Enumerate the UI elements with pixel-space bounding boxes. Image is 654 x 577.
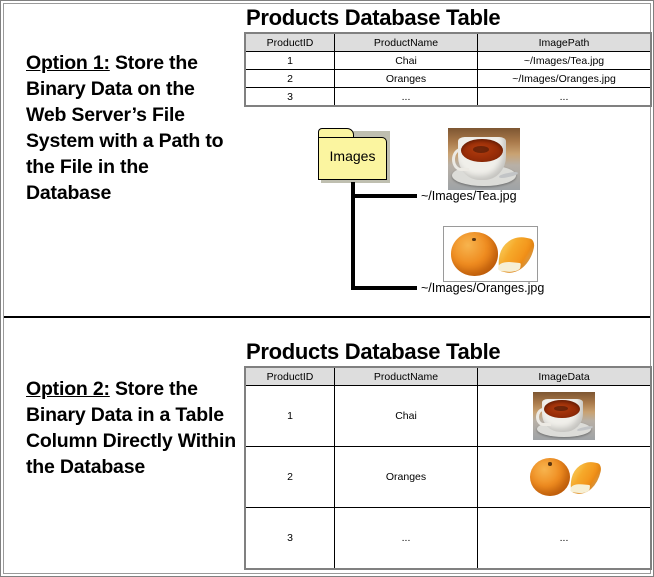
column-header-productid: ProductID xyxy=(245,367,335,386)
cell-imagepath: ~/Images/Tea.jpg xyxy=(478,52,652,70)
products-table-option-1: ProductID ProductName ImagePath 1 Chai ~… xyxy=(244,32,652,107)
cell-productname: Oranges xyxy=(335,70,478,88)
cell-productid: 2 xyxy=(245,70,335,88)
cell-productname: ... xyxy=(335,88,478,107)
cell-imagedata xyxy=(478,447,652,508)
oranges-image xyxy=(443,226,538,282)
table-row: 3 ... ... xyxy=(245,88,651,107)
column-header-productname: ProductName xyxy=(335,33,478,52)
cell-productid: 2 xyxy=(245,447,335,508)
folder-label: Images xyxy=(318,148,387,164)
teacup-art xyxy=(533,392,595,440)
cell-imagedata xyxy=(478,386,652,447)
cell-productname: ... xyxy=(335,508,478,570)
teacup-image xyxy=(533,392,595,440)
teacup-art xyxy=(448,128,520,190)
oranges-image xyxy=(524,453,604,501)
option-1-table-title: Products Database Table xyxy=(246,5,500,31)
cell-imagepath: ~/Images/Oranges.jpg xyxy=(478,70,652,88)
teacup-image xyxy=(448,128,520,190)
table-header-row: ProductID ProductName ImagePath xyxy=(245,33,651,52)
section-divider xyxy=(4,316,650,318)
cell-productid: 3 xyxy=(245,508,335,570)
cell-imagepath: ... xyxy=(478,88,652,107)
table-header-row: ProductID ProductName ImageData xyxy=(245,367,651,386)
cell-productid: 1 xyxy=(245,52,335,70)
file-path-label-oranges: ~/Images/Oranges.jpg xyxy=(421,281,544,295)
figure-canvas: Option 1: Store the Binary Data on the W… xyxy=(0,0,654,577)
file-path-label-tea: ~/Images/Tea.jpg xyxy=(421,189,517,203)
cell-productname: Chai xyxy=(335,52,478,70)
option-2-label: Option 2: xyxy=(26,378,110,400)
tea-liquid-shape xyxy=(461,139,503,163)
option-1-label: Option 1: xyxy=(26,52,110,74)
oranges-art xyxy=(444,227,537,281)
column-header-imagepath: ImagePath xyxy=(478,33,652,52)
whole-orange-shape xyxy=(530,458,570,496)
oranges-art xyxy=(524,453,604,501)
whole-orange-shape xyxy=(451,232,498,275)
cell-productname: Oranges xyxy=(335,447,478,508)
table-row: 3 ... ... xyxy=(245,508,651,570)
table-row: 2 Oranges ~/Images/Oranges.jpg xyxy=(245,70,651,88)
products-table-option-2: ProductID ProductName ImageData 1 Chai xyxy=(244,366,652,570)
table-row: 1 Chai ~/Images/Tea.jpg xyxy=(245,52,651,70)
column-header-productname: ProductName xyxy=(335,367,478,386)
column-header-imagedata: ImageData xyxy=(478,367,652,386)
tree-branch-line-2 xyxy=(351,286,417,290)
option-1-caption: Option 1: Store the Binary Data on the W… xyxy=(26,50,231,206)
option-2-caption: Option 2: Store the Binary Data in a Tab… xyxy=(26,376,236,480)
option-1-caption-text: Store the Binary Data on the Web Server’… xyxy=(26,52,223,204)
column-header-productid: ProductID xyxy=(245,33,335,52)
tree-trunk-line xyxy=(351,182,355,290)
orange-wedge-shape xyxy=(496,233,535,277)
cell-productid: 1 xyxy=(245,386,335,447)
folder-icon: Images xyxy=(318,128,390,183)
orange-wedge-shape xyxy=(569,458,603,497)
table-row: 1 Chai xyxy=(245,386,651,447)
cell-productid: 3 xyxy=(245,88,335,107)
cell-imagedata: ... xyxy=(478,508,652,570)
cell-productname: Chai xyxy=(335,386,478,447)
option-2-table-title: Products Database Table xyxy=(246,339,500,365)
tree-branch-line-1 xyxy=(351,194,417,198)
table-row: 2 Oranges xyxy=(245,447,651,508)
